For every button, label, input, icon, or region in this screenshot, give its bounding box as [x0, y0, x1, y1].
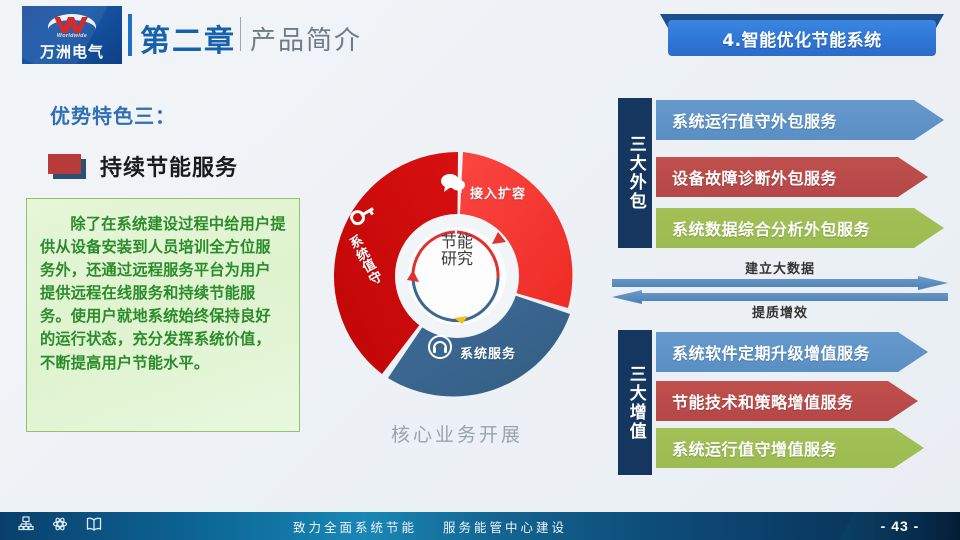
middle-label-bottom: 提质增效 — [612, 302, 948, 321]
outsourcing-group-label-text: 三大外包 — [625, 135, 645, 211]
chat-bubble-icon — [440, 172, 466, 199]
donut-caption: 核心业务开展 — [312, 420, 602, 447]
chapter-label: 第二章 — [140, 16, 236, 60]
outsourcing-item-2[interactable]: 设备故障诊断外包服务 — [656, 157, 928, 197]
section-title-text: 4.智能优化节能系统 — [722, 26, 881, 51]
footer-slogan-left: 致力全面系统节能 — [293, 517, 417, 536]
subheading-text: 持续节能服务 — [100, 150, 238, 182]
donut-center-line2: 研究 — [417, 251, 497, 268]
footer-slogan: 致力全面系统节能 服务能管中心建设 — [0, 512, 860, 540]
logo-english-name: Worldwide — [22, 33, 122, 39]
subheading-row: 持续节能服务 — [48, 150, 238, 182]
footer-icon-group — [18, 512, 102, 540]
page-number-box: - 43 - — [840, 512, 960, 540]
donut-label-service: 系统服务 — [460, 343, 516, 362]
company-logo: Worldwide 万洲电气 — [22, 6, 122, 64]
headset-icon — [428, 335, 452, 364]
page-footer: 致力全面系统节能 服务能管中心建设 - 43 - — [0, 512, 960, 540]
section-title-banner: 4.智能优化节能系统 — [660, 14, 944, 56]
feature-title: 优势特色三： — [50, 100, 176, 129]
donut-center-text: 节能 研究 — [417, 234, 497, 268]
value-added-group-label-text: 三大增值 — [625, 365, 645, 441]
logo-chinese-name: 万洲电气 — [22, 41, 122, 62]
gear-icon[interactable] — [52, 516, 68, 537]
description-box: 除了在系统建设过程中给用户提供从设备安装到人员培训全方位服务外，还通过远程服务平… — [26, 198, 300, 432]
chapter-accent-bar — [128, 14, 132, 56]
donut-label-access: 接入扩容 — [470, 183, 526, 202]
description-text: 除了在系统建设过程中给用户提供从设备安装到人员培训全方位服务外，还通过远程服务平… — [40, 213, 286, 375]
chapter-subtitle: 产品简介 — [250, 20, 362, 57]
middle-arrows: 建立大数据 提质增效 — [612, 258, 948, 318]
page-number: - 43 - — [881, 518, 920, 534]
value-added-item-2[interactable]: 节能技术和策略增值服务 — [656, 381, 918, 421]
value-added-group-label: 三大增值 — [618, 330, 652, 475]
outsourcing-item-1[interactable]: 系统运行值守外包服务 — [656, 100, 944, 140]
banner-box: 4.智能优化节能系统 — [668, 20, 936, 56]
core-business-donut-chart: 接入扩容 系统值守 系统服务 节能 研究 — [312, 128, 602, 428]
page-header: Worldwide 万洲电气 第二章 产品简介 4.智能优化节能系统 — [0, 0, 960, 72]
arrow-right-icon — [612, 276, 948, 290]
footer-slogan-right: 服务能管中心建设 — [443, 517, 567, 536]
book-icon[interactable] — [86, 516, 102, 537]
outsourcing-group-label: 三大外包 — [618, 98, 652, 248]
sitemap-icon[interactable] — [18, 516, 34, 537]
square-bullet-icon — [48, 154, 86, 179]
value-added-item-3[interactable]: 系统运行值守增值服务 — [656, 428, 924, 468]
outsourcing-item-3[interactable]: 系统数据综合分析外包服务 — [656, 208, 944, 248]
middle-label-top: 建立大数据 — [612, 258, 948, 277]
value-added-item-1[interactable]: 系统软件定期升级增值服务 — [656, 332, 928, 372]
header-divider — [240, 17, 241, 51]
